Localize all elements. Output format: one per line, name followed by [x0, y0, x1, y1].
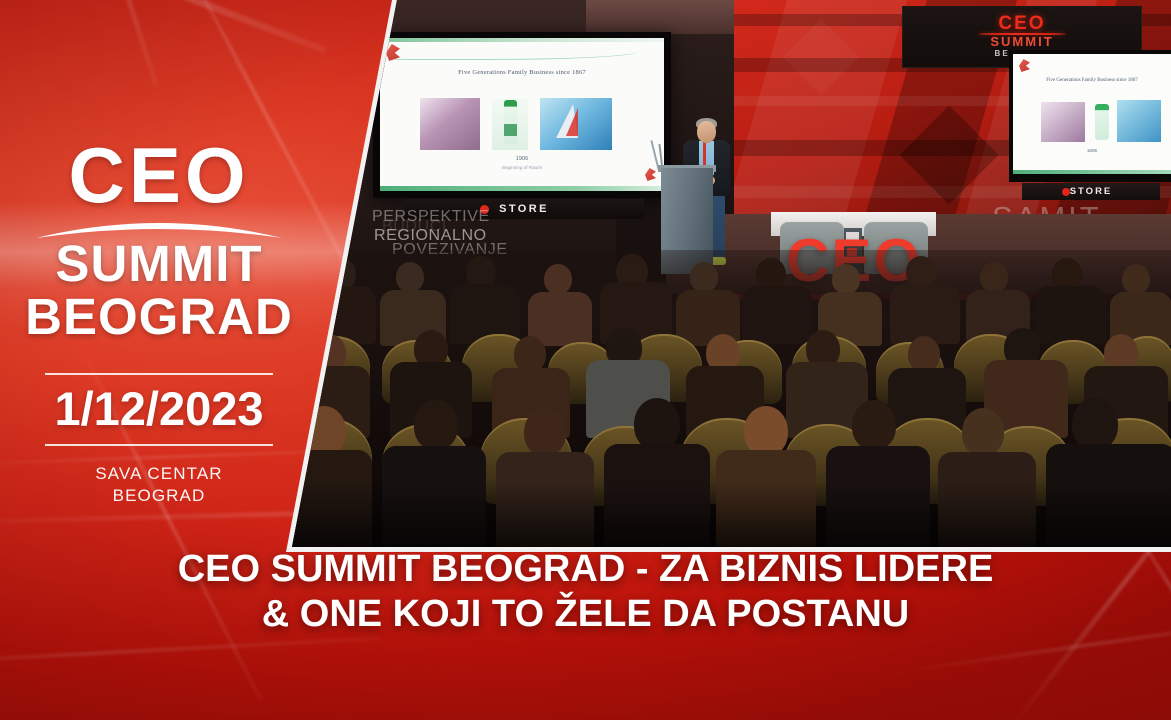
event-date: 1/12/2023	[0, 381, 318, 436]
projection-screen-left: Five Generations Family Business since 1…	[373, 32, 671, 198]
caption-line-2: & ONE KOJI TO ŽELE DA POSTANU	[24, 593, 1147, 636]
poster-caption: CEO SUMMIT BEOGRAD - ZA BIZNIS LIDERE & …	[0, 548, 1171, 635]
right-slide-image-factory	[1117, 100, 1161, 142]
logo-arc-icon	[0, 214, 318, 240]
slide-top-band	[380, 38, 664, 42]
right-slide-band	[1013, 170, 1171, 174]
slide-surface: Five Generations Family Business since 1…	[380, 38, 664, 191]
slide-subtitle: Beginning of Rauch	[380, 165, 664, 170]
venue-city: BEOGRAD	[0, 485, 318, 507]
conference-photo: CEO SUMMIT BEOGRAD Five Generations Fami…	[286, 0, 1171, 552]
projection-screen-right: Five Generations Family Business since 1…	[1009, 50, 1171, 182]
slide-swoosh	[388, 46, 638, 60]
poster-canvas: CEO SUMMIT BEOGRAD Five Generations Fami…	[0, 0, 1171, 720]
right-slide-surface: Five Generations Family Business since 1…	[1013, 54, 1171, 174]
stage-banner-ceo: CEO	[903, 13, 1141, 35]
logo-beograd: BEOGRAD	[0, 290, 318, 343]
right-slide-bottle-icon	[1095, 104, 1109, 140]
right-slide-logo-icon	[1019, 59, 1030, 72]
screen-brand-bar-right: STORE	[1022, 183, 1160, 200]
slide-year: 1906	[380, 156, 664, 162]
slide-bottom-band	[380, 186, 664, 191]
right-slide-title: Five Generations Family Business since 1…	[1013, 78, 1171, 83]
slide-bottle-icon	[504, 100, 517, 144]
slide-bottle-label	[504, 124, 517, 136]
divider-top	[45, 373, 273, 375]
right-slide-image-historic	[1041, 102, 1085, 142]
event-logo-block: CEO SUMMIT BEOGRAD 1/12/2023 SAVA CENTAR…	[0, 140, 318, 507]
logo-ceo: CEO	[0, 140, 318, 212]
divider-bottom	[45, 444, 273, 446]
logo-summit: SUMMIT	[0, 238, 318, 290]
right-slide-year: 1906	[1013, 148, 1171, 153]
store-label-right: STORE	[1022, 186, 1160, 197]
slide-image-historic	[420, 98, 480, 150]
caption-line-1: CEO SUMMIT BEOGRAD - ZA BIZNIS LIDERE	[24, 548, 1147, 591]
venue-name: SAVA CENTAR	[0, 463, 318, 485]
slide-title: Five Generations Family Business since 1…	[380, 69, 664, 76]
audience-area	[286, 250, 1171, 552]
stage-banner-summit: SUMMIT	[903, 34, 1141, 49]
speaker-head	[697, 121, 716, 143]
